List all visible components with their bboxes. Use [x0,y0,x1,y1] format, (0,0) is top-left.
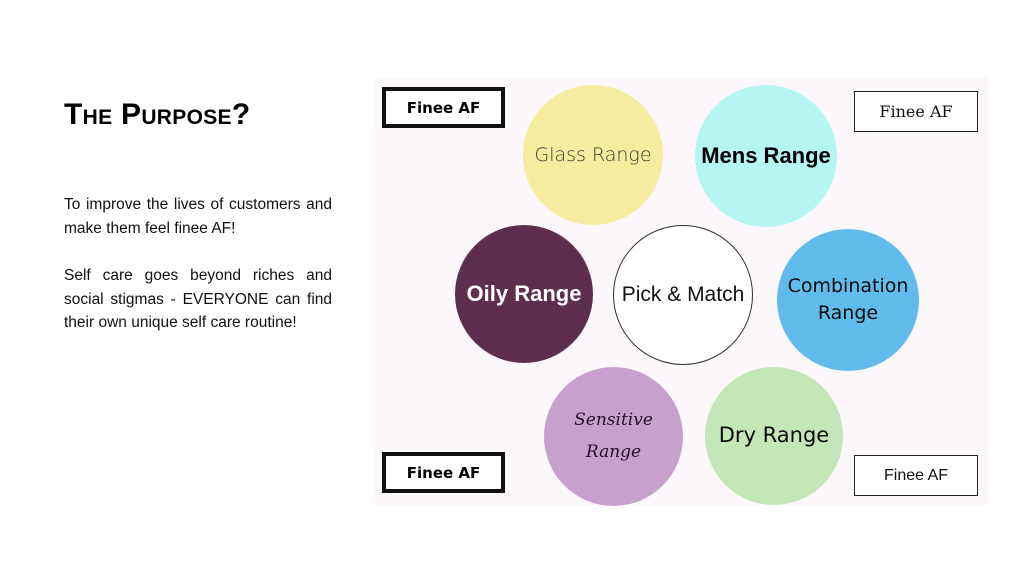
range-circle-label: Pick & Match [614,281,752,310]
range-circle-label: Oily Range [455,279,593,308]
brand-label: Finee AF [879,102,952,121]
purpose-paragraph-2: Self care goes beyond riches and social … [64,264,332,335]
brand-box-top-right: Finee AF [854,91,978,132]
brand-label: Finee AF [407,99,481,117]
range-circle-glass[interactable]: Glass Range [523,85,663,225]
range-circle-label: Sensitive Range [544,405,683,468]
range-circle-mens[interactable]: Mens Range [695,85,837,227]
purpose-paragraph-1: To improve the lives of customers and ma… [64,193,332,240]
page-title: The Purpose? [64,98,332,131]
brand-label: Finee AF [407,464,481,482]
brand-box-bottom-right: Finee AF [854,455,978,496]
range-circle-dry[interactable]: Dry Range [705,367,843,505]
brand-box-bottom-left: Finee AF [382,452,505,493]
range-circle-label: Glass Range [523,141,663,170]
product-range-diagram: Finee AF Finee AF Finee AF Finee AF Glas… [375,77,988,505]
range-circle-combination[interactable]: Combination Range [777,229,919,371]
brand-label: Finee AF [884,467,948,485]
range-circle-label: Combination Range [777,273,919,326]
purpose-text-column: The Purpose? To improve the lives of cus… [64,98,332,335]
range-circle-label: Mens Range [695,141,837,170]
range-circle-sensitive[interactable]: Sensitive Range [544,367,683,506]
range-circle-label: Dry Range [705,422,843,449]
range-circle-pick-match[interactable]: Pick & Match [613,225,753,365]
range-circle-oily[interactable]: Oily Range [455,225,593,363]
brand-box-top-left: Finee AF [382,87,505,128]
